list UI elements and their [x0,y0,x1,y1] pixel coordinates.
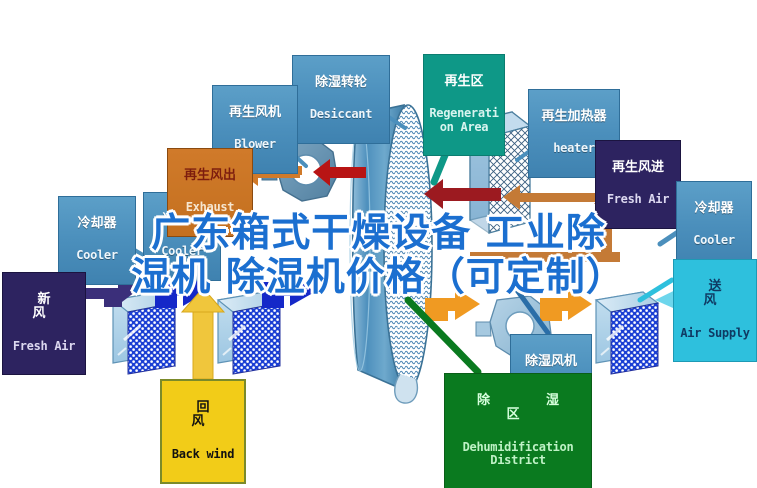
label-fresh-air-left-en: Fresh Air [7,340,81,353]
label-fresh-air-right-cn: 再生风进 [600,161,676,176]
label-cooler-left-2-en: Cooler [148,245,216,258]
label-back-wind: 回 风 Back wind [160,379,246,484]
label-desiccant-rotor: 除湿转轮 Desiccant [292,55,390,144]
label-cooler-left-cn: 冷却器 [63,217,131,232]
label-air-supply-en: Air Supply [678,327,752,340]
label-fresh-air-left-cn: 新 风 [7,293,81,322]
label-fresh-air-right-en: Fresh Air [600,193,676,206]
label-cooler-right: 冷却器 Cooler [676,181,752,270]
label-back-wind-cn: 回 风 [166,401,240,430]
label-air-supply-cn: 送 风 [678,280,752,309]
label-dehumidification-blower-cn: 除湿风机 [515,355,587,370]
label-cooler-left-en: Cooler [63,249,131,262]
label-dehumidification-district: 除 湿 区 Dehumidification District [444,373,592,488]
callout-labels-layer: 除湿转轮 Desiccant 再生风机 Blower 再生风出 Exhaust … [0,0,757,488]
label-regeneration-exhaust-en: Exhaust [172,201,248,214]
label-regeneration-area: 再生区 Regenerati on Area [423,54,505,156]
label-regeneration-area-cn: 再生区 [428,75,500,90]
label-cooler-right-cn: 冷却器 [681,202,747,217]
label-fresh-air-right: 再生风进 Fresh Air [595,140,681,229]
label-regeneration-blower-cn: 再生风机 [217,106,293,121]
label-regeneration-heater-cn: 再生加热器 [533,110,615,125]
label-dehumidification-district-cn: 除 湿 区 [449,394,587,423]
dehumidifier-schematic-image: XIN [0,0,757,488]
label-desiccant-rotor-en: Desiccant [297,108,385,121]
label-regeneration-exhaust: 再生风出 Exhaust [167,148,253,237]
label-fresh-air-left: 新 风 Fresh Air [2,272,86,375]
label-regeneration-exhaust-cn: 再生风出 [172,169,248,184]
label-air-supply: 送 风 Air Supply [673,259,757,362]
label-back-wind-en: Back wind [166,448,240,461]
label-dehumidification-district-en: Dehumidification District [449,441,587,468]
label-cooler-right-en: Cooler [681,234,747,247]
label-regeneration-area-en: Regenerati on Area [428,107,500,134]
label-desiccant-rotor-cn: 除湿转轮 [297,76,385,91]
